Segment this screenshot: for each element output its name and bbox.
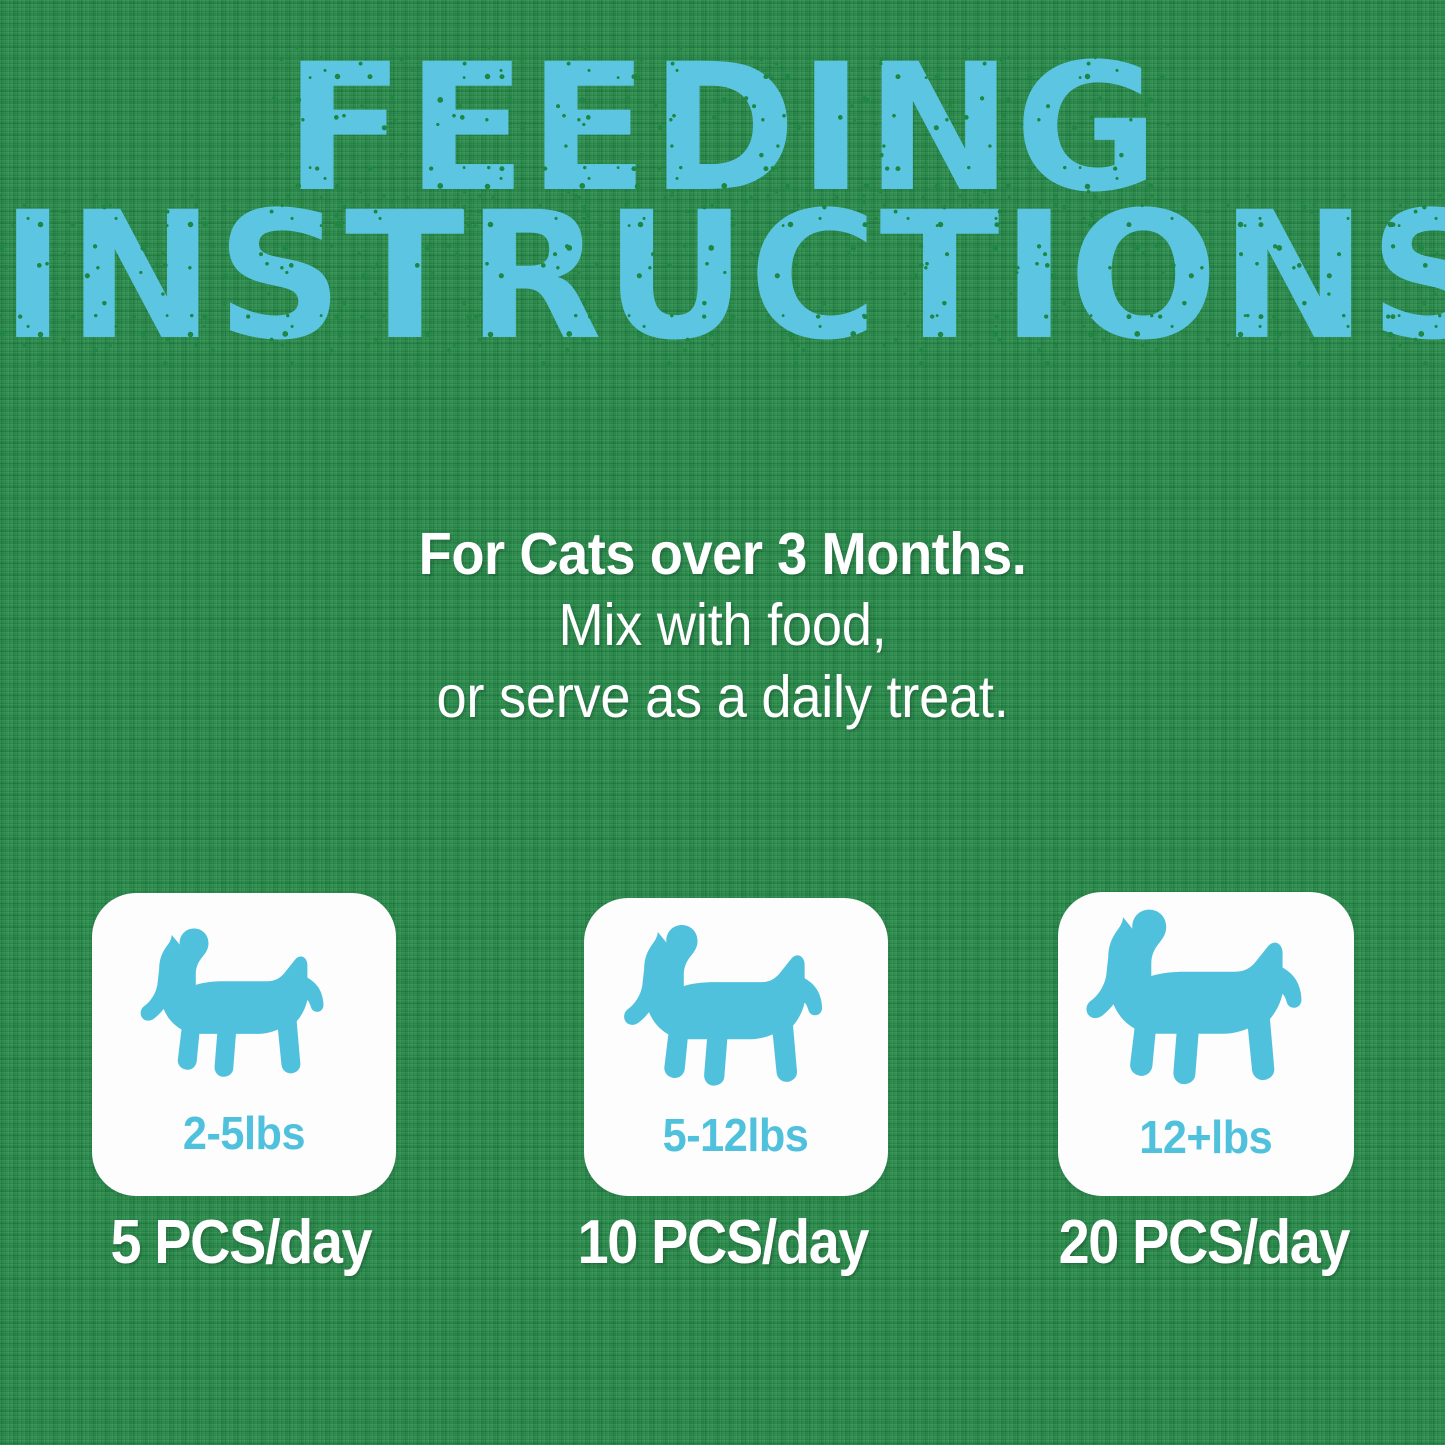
walking-cat-icon — [136, 925, 352, 1100]
weight-card-small[interactable]: 2-5lbs — [92, 893, 396, 1196]
subtitle-block: For Cats over 3 Months. Mix with food, o… — [0, 520, 1445, 734]
subtitle-line-1: For Cats over 3 Months. — [58, 520, 1387, 590]
subtitle-line-2: Mix with food, — [58, 590, 1387, 662]
dose-row: 5 PCS/day 10 PCS/day 20 PCS/day — [0, 1212, 1445, 1302]
walking-cat-icon — [620, 916, 852, 1116]
weight-label: 12+lbs — [1139, 1110, 1272, 1164]
walking-cat-icon — [1082, 896, 1334, 1121]
page-title: FEEDING INSTRUCTIONS — [0, 48, 1445, 358]
title-line-2-text: INSTRUCTIONS — [0, 196, 1445, 358]
subtitle-line-3: or serve as a daily treat. — [58, 662, 1387, 734]
weight-card-medium[interactable]: 5-12lbs — [584, 898, 888, 1196]
weight-card-row: 2-5lbs 5-12lbs 12+lbs — [0, 884, 1445, 1204]
feeding-instructions-panel: FEEDING INSTRUCTIONS For Cats over 3 Mon… — [0, 0, 1445, 1445]
weight-label: 2-5lbs — [183, 1106, 305, 1160]
weight-card-large[interactable]: 12+lbs — [1058, 892, 1354, 1196]
weight-label: 5-12lbs — [663, 1108, 809, 1162]
dose-label-large: 20 PCS/day — [987, 1212, 1421, 1302]
title-line-2: INSTRUCTIONS — [0, 196, 1445, 358]
dose-label-small: 5 PCS/day — [24, 1212, 458, 1302]
dose-label-medium: 10 PCS/day — [506, 1212, 940, 1302]
